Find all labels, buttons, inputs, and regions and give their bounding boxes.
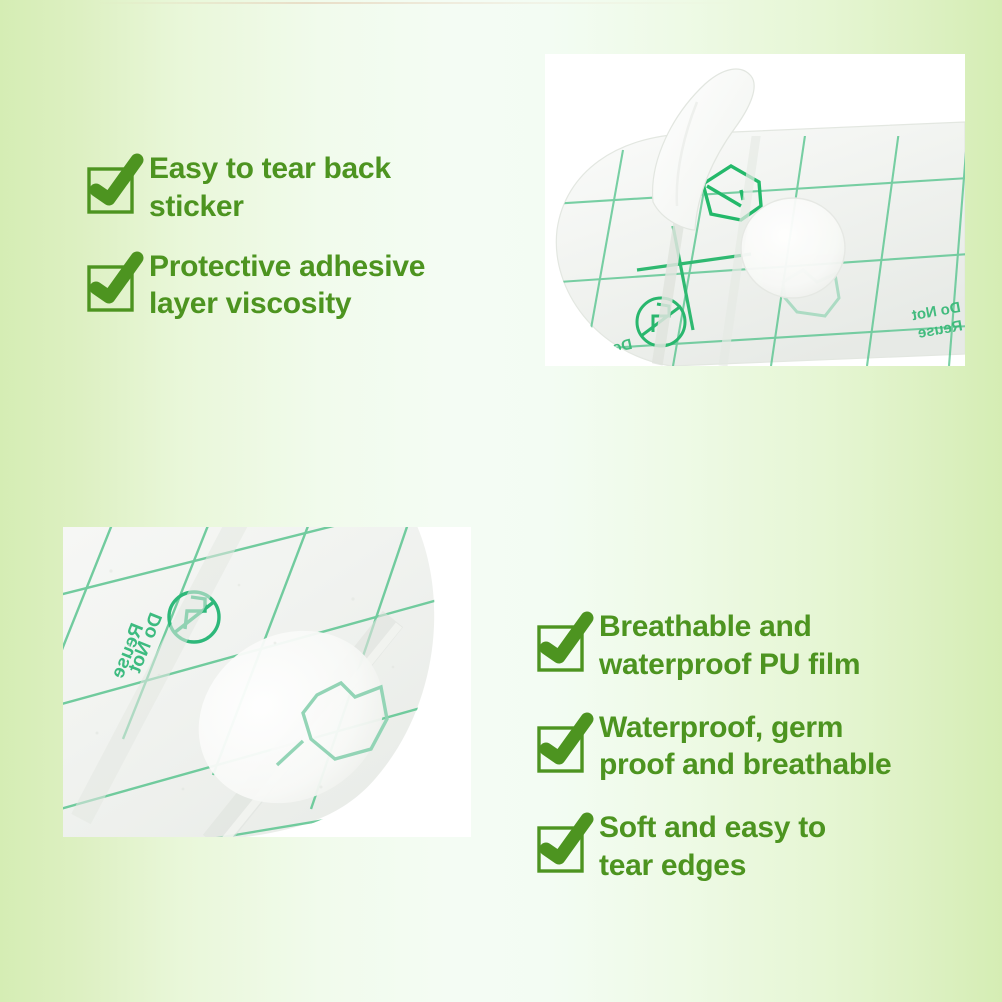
feature-label: Easy to tear back sticker xyxy=(149,150,391,226)
checkbox-checked-icon xyxy=(88,266,132,310)
feature-label: Protective adhesive layer viscosity xyxy=(149,248,425,324)
checkbox-checked-icon xyxy=(538,727,582,771)
feature-item-soft-easy-tear-edges: Soft and easy to tear edges xyxy=(538,809,968,885)
checkbox-checked-icon xyxy=(538,626,582,670)
feature-label: Soft and easy to tear edges xyxy=(599,809,826,885)
feature-item-protective-adhesive-layer: Protective adhesive layer viscosity xyxy=(88,248,508,324)
checkbox-checked-icon xyxy=(538,827,582,871)
dressing-illustration-top: Do Not Reuse Do Not Reuse xyxy=(545,54,965,366)
product-photo-bottom-left: Do Not Reuse xyxy=(63,527,471,837)
top-hairline-artifact xyxy=(95,2,740,4)
feature-item-waterproof-germ-proof: Waterproof, germ proof and breathable xyxy=(538,709,968,785)
checkbox-checked-icon xyxy=(88,168,132,212)
dressing-illustration-bottom: Do Not Reuse xyxy=(63,527,471,837)
product-feature-poster: Do Not Reuse Do Not Reuse xyxy=(0,0,1002,1002)
feature-label: Breathable and waterproof PU film xyxy=(599,608,860,684)
feature-list-bottom: Breathable and waterproof PU film Waterp… xyxy=(538,608,968,885)
feature-item-breathable-waterproof-pu-film: Breathable and waterproof PU film xyxy=(538,608,968,684)
feature-item-easy-tear-back-sticker: Easy to tear back sticker xyxy=(88,150,508,226)
feature-label: Waterproof, germ proof and breathable xyxy=(599,709,891,785)
feature-list-top: Easy to tear back sticker Protective adh… xyxy=(88,150,508,323)
product-photo-top-right: Do Not Reuse Do Not Reuse xyxy=(545,54,965,366)
